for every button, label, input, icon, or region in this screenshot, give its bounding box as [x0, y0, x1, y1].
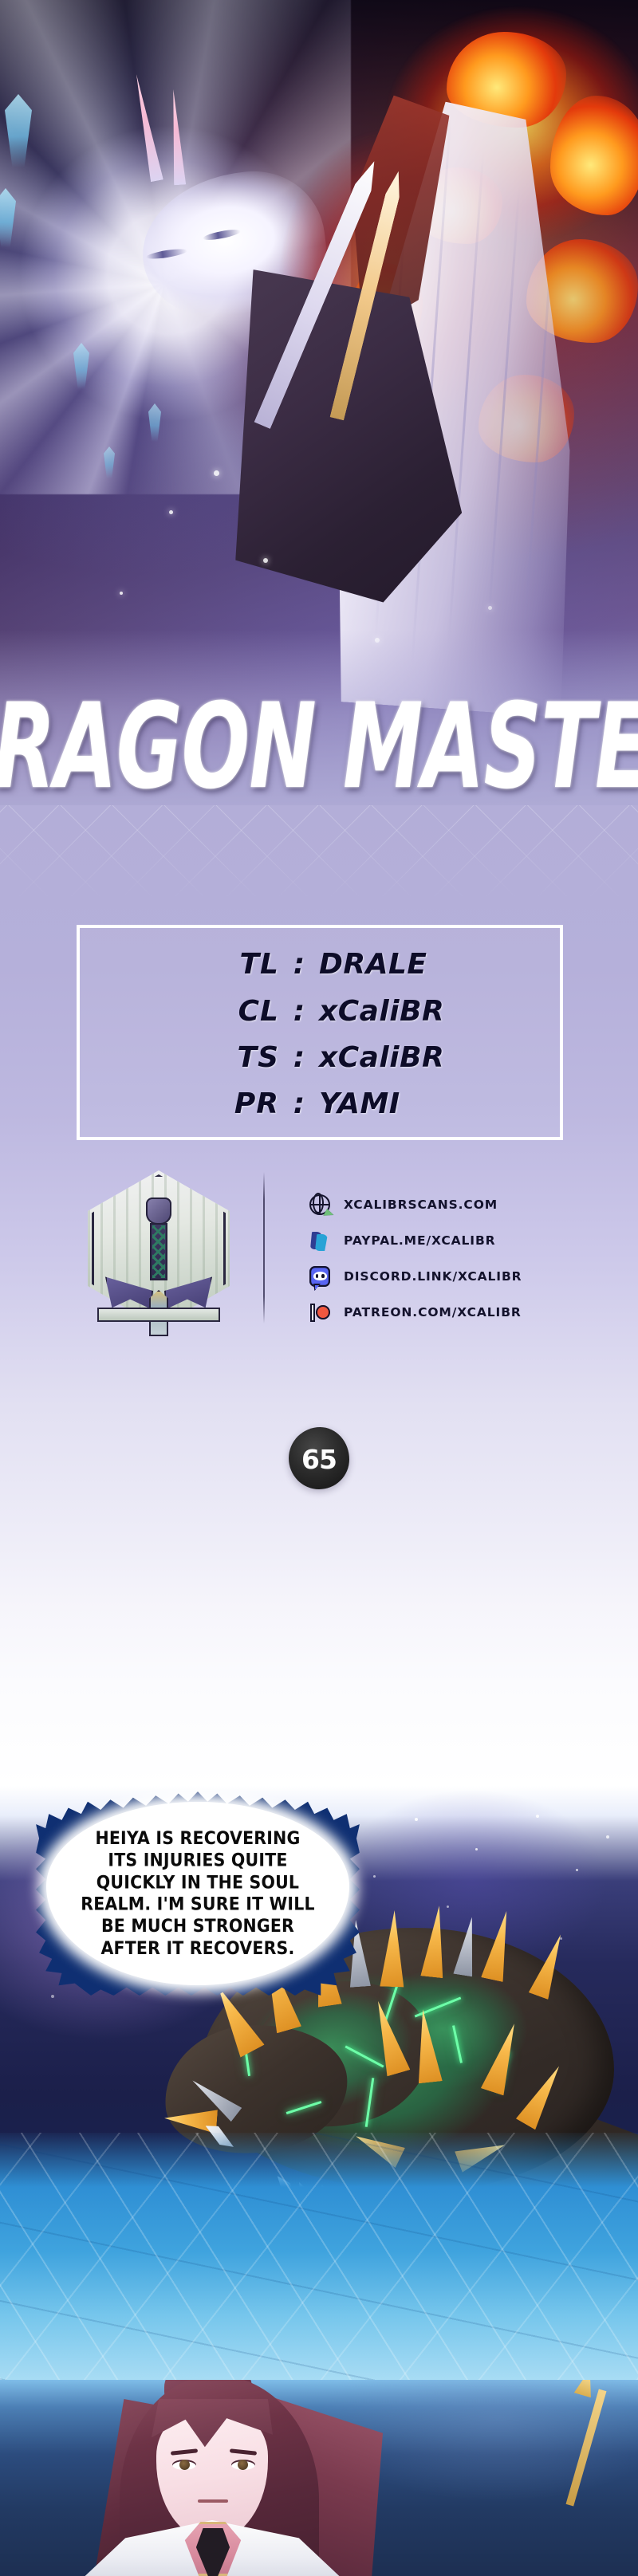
credit-separator: :: [279, 1081, 319, 1127]
panel-gutter: [0, 1539, 638, 1786]
paypal-icon: [309, 1230, 330, 1251]
link-label: XCALIBRSCANS.COM: [344, 1198, 498, 1212]
credit-name: DRALE: [319, 942, 560, 988]
credit-row: TS : xCaliBR: [80, 1035, 560, 1081]
credit-separator: :: [279, 942, 319, 988]
credit-name: xCaliBR: [319, 1035, 560, 1081]
credit-row: TL : DRALE: [80, 942, 560, 988]
links-list: XCALIBRSCANS.COM PAYPAL.ME/XCALIBR: [309, 1190, 522, 1333]
story-panel-character: [0, 2380, 638, 2576]
link-item-discord[interactable]: DISCORD.LINK/XCALIBR: [309, 1261, 522, 1292]
spear-tip-icon: [574, 2380, 599, 2397]
credits-box: TL : DRALE CL : xCaliBR TS : xCaliBR PR …: [77, 925, 563, 1140]
webtoon-page: DRAGON MASTER TL : DRALE CL : xCaliBR TS…: [0, 0, 638, 2576]
credits-panel: TL : DRALE CL : xCaliBR TS : xCaliBR PR …: [0, 805, 638, 1539]
ice-ground: [0, 2133, 638, 2380]
character-eye: [172, 2460, 196, 2470]
link-item-website[interactable]: XCALIBRSCANS.COM: [309, 1190, 522, 1220]
character-mouth: [198, 2499, 228, 2503]
patreon-icon: [309, 1302, 330, 1323]
link-label: DISCORD.LINK/XCALIBR: [344, 1269, 522, 1284]
link-label: PAYPAL.ME/XCALIBR: [344, 1233, 496, 1248]
credit-role: CL: [80, 989, 279, 1035]
chapter-number-badge: 65: [289, 1427, 349, 1489]
discord-icon: [309, 1266, 330, 1287]
character-eye: [231, 2460, 255, 2470]
speech-bubble-body: HEIYA IS RECOVERING ITS INJURIES QUITE Q…: [46, 1802, 349, 1985]
credit-row: CL : xCaliBR: [80, 989, 560, 1035]
sword-grip-icon: [150, 1223, 167, 1280]
series-title-block: DRAGON MASTER: [0, 679, 638, 813]
globe-icon: [309, 1194, 330, 1215]
story-panel-sleeping-dragon: HEIYA IS RECOVERING ITS INJURIES QUITE Q…: [0, 1786, 638, 2380]
speech-bubble: HEIYA IS RECOVERING ITS INJURIES QUITE Q…: [46, 1802, 349, 1985]
credit-row: PR : YAMI: [80, 1081, 560, 1127]
credit-role: TS: [80, 1035, 279, 1081]
chapter-number: 65: [301, 1444, 337, 1475]
xcalibr-sword-emblem: [88, 1170, 230, 1327]
link-item-paypal[interactable]: PAYPAL.ME/XCALIBR: [309, 1225, 522, 1256]
spear-shaft: [566, 2389, 607, 2507]
credit-role: PR: [80, 1081, 279, 1127]
page-title: DRAGON MASTER: [0, 687, 638, 805]
link-label: PATREON.COM/XCALIBR: [344, 1305, 522, 1319]
credit-separator: :: [279, 1035, 319, 1081]
credit-name: YAMI: [319, 1081, 560, 1127]
argyle-pattern: [0, 805, 638, 901]
scanlation-links-zone: XCALIBRSCANS.COM PAYPAL.ME/XCALIBR: [0, 1164, 638, 1387]
vertical-divider: [263, 1172, 265, 1323]
credit-separator: :: [279, 989, 319, 1035]
credit-name: xCaliBR: [319, 989, 560, 1035]
sword-pommel-icon: [146, 1198, 171, 1225]
link-item-patreon[interactable]: PATREON.COM/XCALIBR: [309, 1297, 522, 1327]
speech-bubble-text: HEIYA IS RECOVERING ITS INJURIES QUITE Q…: [78, 1827, 317, 1960]
credit-role: TL: [80, 942, 279, 988]
emblem-base: [97, 1308, 220, 1322]
